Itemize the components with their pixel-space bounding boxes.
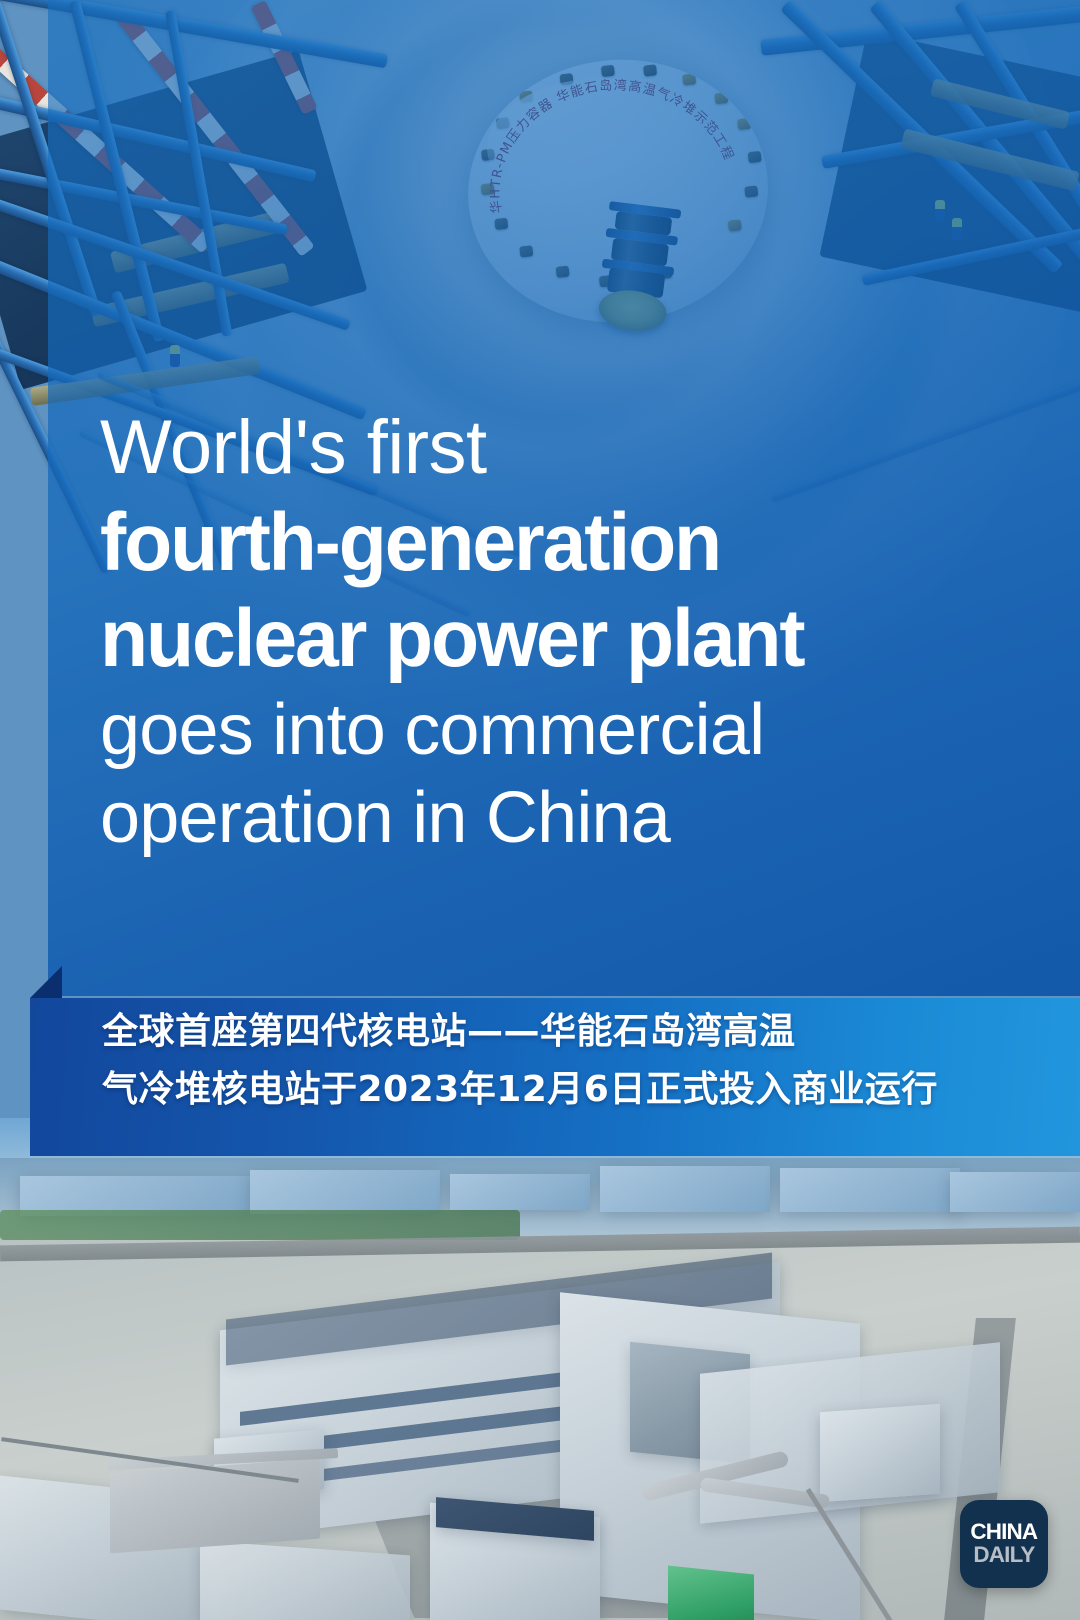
green-container <box>668 1565 754 1620</box>
distant-building-2 <box>250 1170 440 1214</box>
logo-text-daily: DAILY <box>973 1543 1034 1567</box>
logo-text-china: CHINA <box>970 1521 1037 1543</box>
caption-line-1: 全球首座第四代核电站——华能石岛湾高温 <box>102 1003 1022 1061</box>
headline-line-4: goes into commercial <box>100 694 1000 766</box>
caption-fold-corner <box>30 966 62 998</box>
headline-line-5: operation in China <box>100 782 1000 854</box>
headline: World's first fourth-generation nuclear … <box>100 410 1000 870</box>
distant-building-5 <box>780 1168 960 1212</box>
aux-building-3 <box>820 1404 940 1502</box>
distant-building-4 <box>600 1166 770 1212</box>
headline-line-2: fourth-generation <box>100 502 964 584</box>
headline-line-3: nuclear power plant <box>100 598 964 680</box>
switchyard-equipment <box>110 1459 320 1554</box>
distant-building-3 <box>450 1174 590 1210</box>
aerial-plant-photo <box>0 1118 1080 1620</box>
caption-line-2: 气冷堆核电站于2023年12月6日正式投入商业运行 <box>102 1061 1022 1119</box>
aux-building-5 <box>200 1541 410 1620</box>
caption-text: 全球首座第四代核电站——华能石岛湾高温 气冷堆核电站于2023年12月6日正式投… <box>102 1003 1022 1119</box>
headline-line-1: World's first <box>100 410 1000 486</box>
poster: 华HTR-PM压力容器 华能石岛湾高温气冷堆示范工程 <box>0 0 1080 1620</box>
distant-building-6 <box>950 1172 1080 1212</box>
treeline <box>0 1210 520 1240</box>
china-daily-logo[interactable]: CHINA DAILY <box>960 1500 1048 1588</box>
